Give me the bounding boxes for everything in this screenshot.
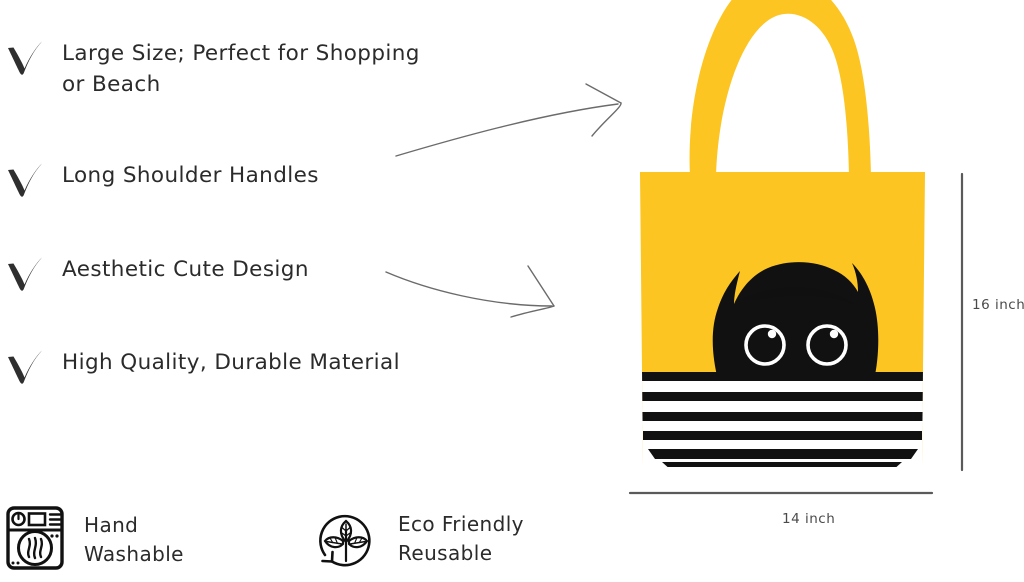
care-badge-eco-friendly: Eco Friendly Reusable [312,503,524,575]
feature-list: Large Size; Perfect for Shopping or Beac… [0,0,470,400]
care-badge-label: Eco Friendly Reusable [398,510,524,568]
check-icon [4,248,46,294]
care-badge-hand-washable: Hand Washable [4,505,184,575]
tote-bag-illustration [600,0,970,510]
feature-item-large-size: Large Size; Perfect for Shopping or Beac… [4,36,420,100]
care-badge-label: Hand Washable [84,511,184,569]
product-infographic: Large Size; Perfect for Shopping or Beac… [0,0,1024,582]
dimension-height-label: 16 inch [972,297,1024,313]
feature-item-cute-design: Aesthetic Cute Design [4,252,309,294]
washing-machine-icon [4,505,66,575]
eco-leaf-recycle-icon [312,503,380,575]
feature-item-durable-material: High Quality, Durable Material [4,345,400,387]
dimension-line-height [958,172,966,472]
feature-item-label: High Quality, Durable Material [62,345,400,378]
feature-item-label: Aesthetic Cute Design [62,252,309,285]
feature-item-label: Large Size; Perfect for Shopping or Beac… [62,36,420,100]
dimension-width-label: 14 inch [782,511,835,527]
feature-item-long-handles: Long Shoulder Handles [4,158,319,200]
bag-handle [690,0,871,176]
dimension-line-width [628,489,934,497]
check-icon [4,341,46,387]
feature-item-label: Long Shoulder Handles [62,158,319,191]
check-icon [4,32,46,78]
arrow-to-bag-design [380,262,580,322]
check-icon [4,154,46,200]
